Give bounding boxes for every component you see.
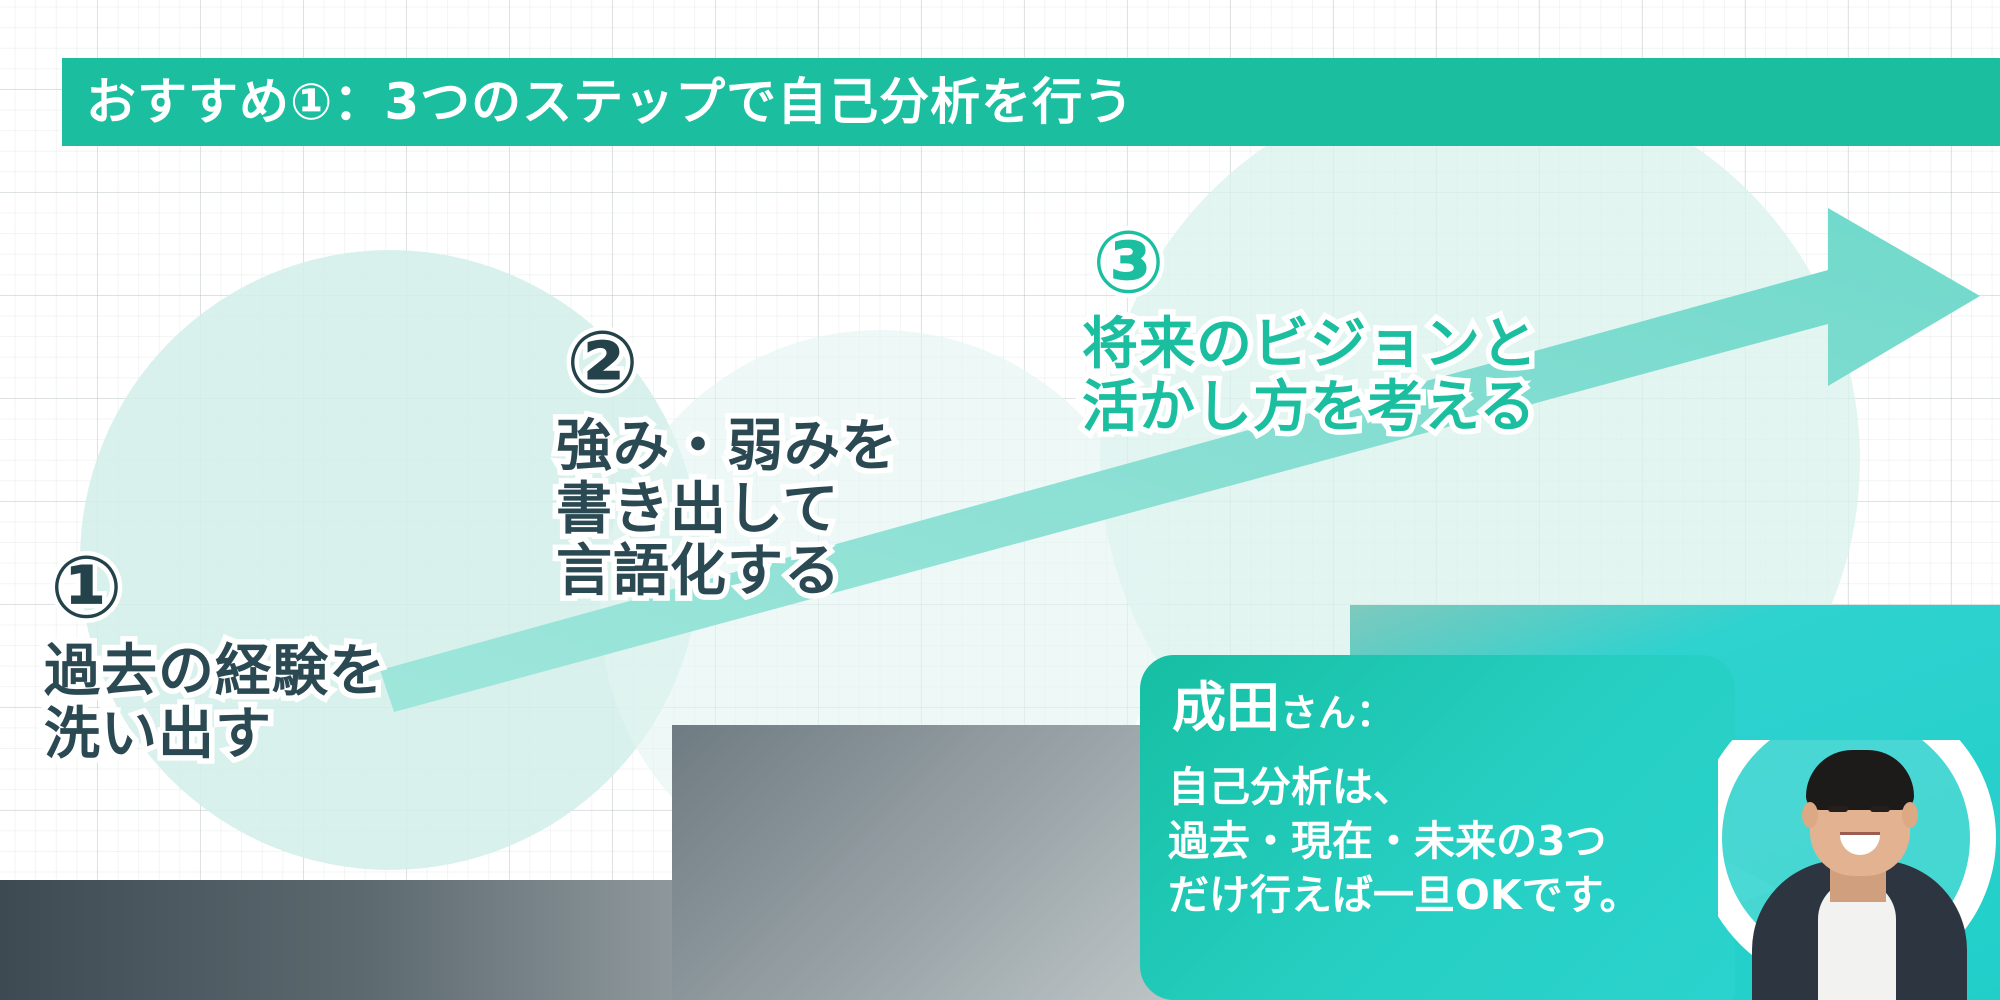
speech-bubble-speaker: 成田さん：	[1172, 681, 1394, 735]
speech-bubble: 成田さん： 自己分析は、 過去・現在・未来の3つ だけ行えば一旦OKです。	[1140, 655, 1735, 1000]
person-photo: 成田さん 顔写真	[1718, 740, 2000, 1000]
person-eye-right	[1870, 806, 1890, 812]
speaker-name: 成田	[1172, 676, 1280, 739]
step-2: ② 強み・弱みを 書き出して 言語化する	[556, 320, 898, 604]
person-ear-left	[1802, 802, 1818, 828]
step-1-number: ①	[50, 545, 386, 631]
header-banner: おすすめ①：3つのステップで自己分析を行う	[62, 58, 2000, 146]
step-3: ③ 将来のビジョンと 活かし方を考える	[1082, 220, 1538, 439]
speaker-suffix: さん：	[1280, 691, 1394, 735]
step-1: ① 過去の経験を 洗い出す	[44, 545, 386, 766]
step-3-text: 将来のビジョンと 活かし方を考える	[1082, 314, 1538, 439]
step-2-number: ②	[566, 320, 898, 406]
person-photo-alt: 成田さん 顔写真	[1718, 740, 1719, 741]
person-eye-left	[1828, 806, 1848, 812]
step-2-text: 強み・弱みを 書き出して 言語化する	[556, 416, 898, 604]
person-ear-right	[1902, 802, 1918, 828]
speech-bubble-body: 自己分析は、 過去・現在・未来の3つ だけ行えば一旦OKです。	[1168, 760, 1641, 922]
header-banner-text: おすすめ①：3つのステップで自己分析を行う	[62, 77, 1134, 127]
step-3-number: ③	[1092, 220, 1538, 306]
decorative-rect-dark	[0, 880, 672, 1000]
step-1-text: 過去の経験を 洗い出す	[44, 641, 386, 766]
slide-canvas: おすすめ①：3つのステップで自己分析を行う ① 過去の経験を 洗い出す ② 強み…	[0, 0, 2000, 1000]
